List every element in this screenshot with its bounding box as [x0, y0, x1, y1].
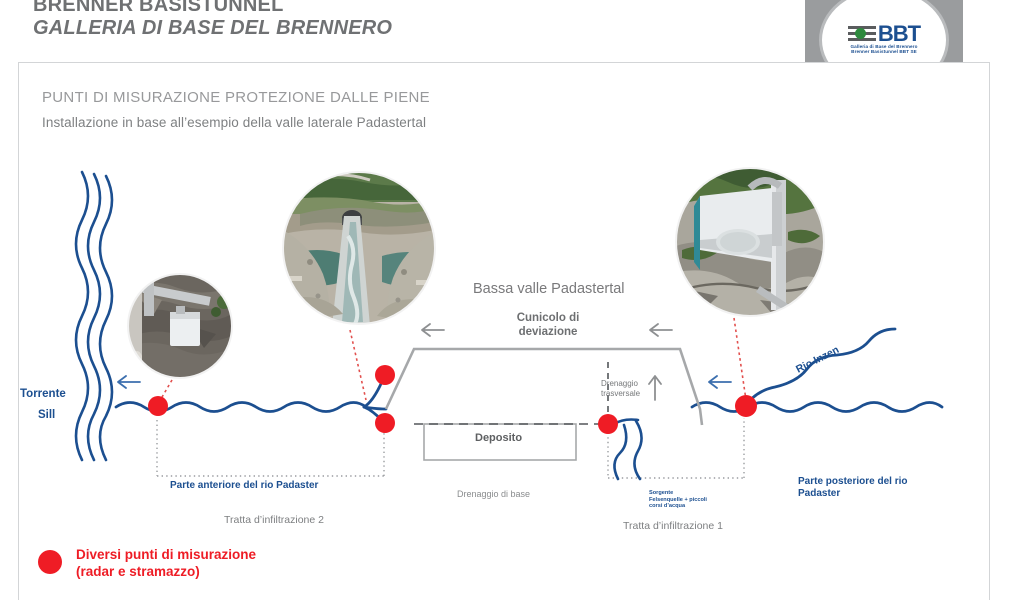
label-tratta-infiltrazione-2: Tratta d’infiltrazione 2 [224, 514, 324, 526]
tratta-infiltrazione-2 [157, 420, 384, 476]
torrente-sill-waves [76, 172, 112, 460]
legend-line-1: Diversi punti di misurazione [76, 546, 256, 563]
label-sill: Sill [38, 409, 55, 421]
label-bassa-valle-padastertal: Bassa valle Padastertal [473, 281, 625, 297]
sorgente-stream [614, 420, 642, 480]
measurement-point [375, 365, 395, 385]
legend-marker-icon [38, 550, 62, 574]
measurement-point [598, 414, 618, 434]
label-parte-posteriore-rio-padaster: Parte posteriore del rio Padaster [798, 476, 928, 500]
flood-protection-diagram [0, 0, 1010, 600]
label-torrente: Torrente [20, 388, 66, 400]
tratta-infiltrazione-1 [608, 418, 744, 478]
label-parte-anteriore-rio-padaster: Parte anteriore del rio Padaster [170, 480, 318, 491]
label-deposito: Deposito [475, 432, 522, 444]
label-tratta-infiltrazione-1: Tratta d’infiltrazione 1 [623, 520, 723, 532]
legend: Diversi punti di misurazione (radar e st… [38, 546, 256, 580]
measurement-point [735, 395, 757, 417]
label-sorgente-felsenquelle: Sorgente Felsenquelle + piccoli corsi d’… [649, 490, 707, 510]
measurement-point [148, 396, 168, 416]
river-main-line [116, 329, 942, 423]
label-drenaggio-di-base: Drenaggio di base [457, 489, 530, 499]
legend-text: Diversi punti di misurazione (radar e st… [76, 546, 256, 580]
legend-line-2: (radar e stramazzo) [76, 563, 256, 580]
label-cunicolo-di-deviazione: Cunicolo di deviazione [500, 311, 596, 339]
label-drenaggio-trasversale: Drenaggio trasversale [601, 379, 640, 398]
measurement-point [375, 413, 395, 433]
